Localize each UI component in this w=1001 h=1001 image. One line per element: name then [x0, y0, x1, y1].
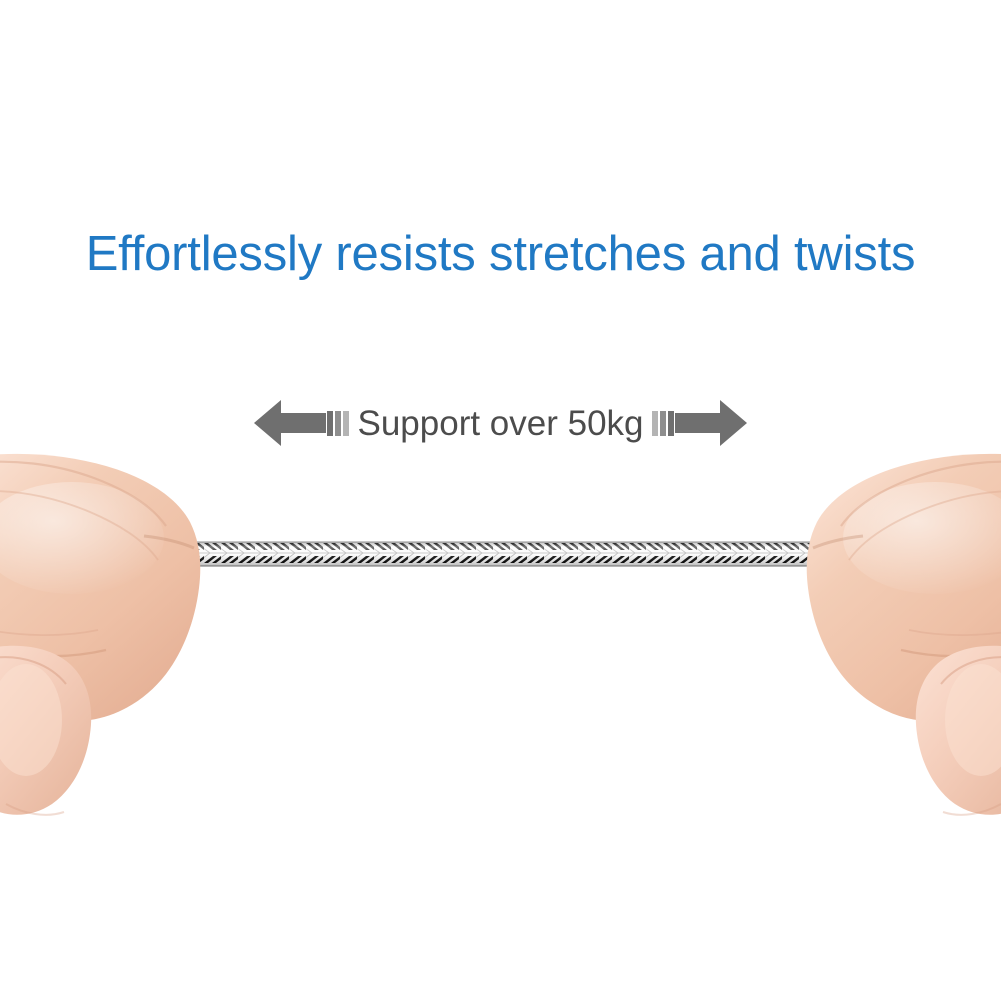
- arrow-tick-1: [327, 411, 333, 436]
- arrow-tick-5: [660, 411, 666, 436]
- arrow-tick-3: [343, 411, 349, 436]
- support-banner: Support over 50kg: [0, 395, 1001, 451]
- arrow-tick-4: [652, 411, 658, 436]
- product-feature-image: Effortlessly resists stretches and twist…: [0, 0, 1001, 1001]
- arrow-tick-6: [668, 411, 674, 436]
- page-title: Effortlessly resists stretches and twist…: [0, 226, 1001, 282]
- right-hand-fist: [763, 452, 1001, 847]
- arrow-tick-2: [335, 411, 341, 436]
- left-hand-fist: [0, 452, 244, 847]
- right-arrow-icon: [651, 398, 747, 448]
- left-arrow-icon: [254, 398, 350, 448]
- support-label: Support over 50kg: [350, 406, 650, 441]
